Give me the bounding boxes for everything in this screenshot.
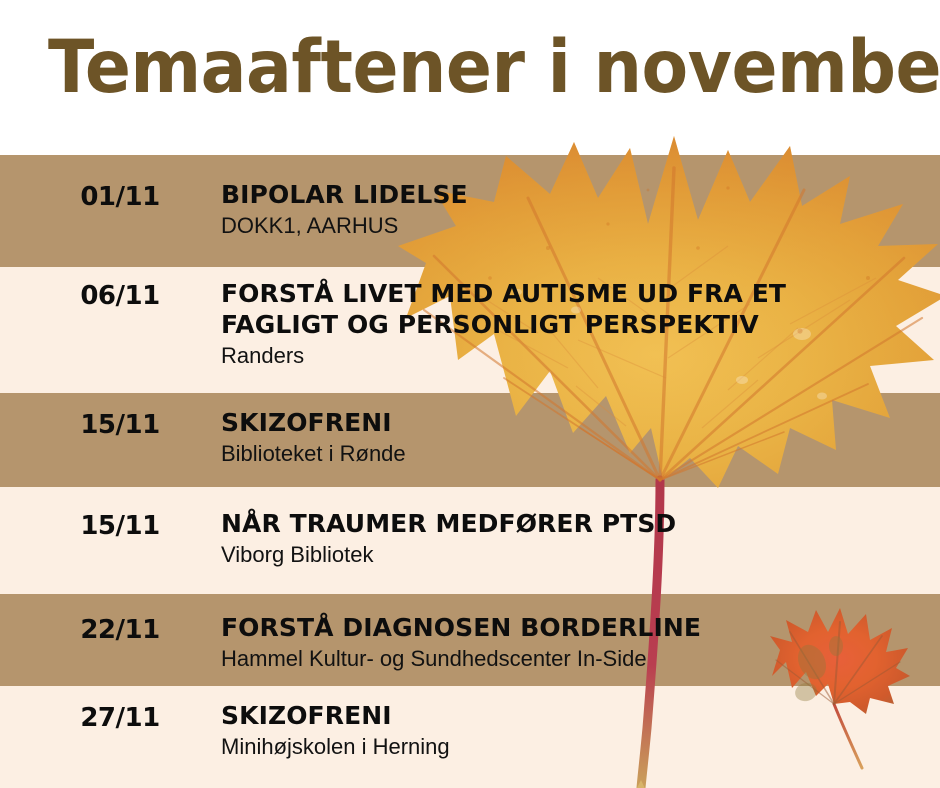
event-title: FORSTÅ LIVET MED AUTISME UD FRA ET FAGLI…: [221, 278, 930, 340]
event-place: Minihøjskolen i Herning: [221, 733, 930, 761]
page-title: Temaaftener i november: [48, 22, 940, 114]
event-date: 27/11: [55, 703, 185, 733]
poster: Temaaftener i november 01/11 BIPOLAR LID…: [0, 0, 940, 788]
event-info: BIPOLAR LIDELSE DOKK1, AARHUS: [221, 179, 930, 240]
event-date: 01/11: [55, 182, 185, 212]
event-title: SKIZOFRENI: [221, 700, 930, 731]
event-date: 06/11: [55, 281, 185, 311]
event-place: Biblioteket i Rønde: [221, 440, 930, 468]
event-date: 22/11: [55, 615, 185, 645]
header: Temaaftener i november: [0, 0, 940, 155]
event-place: Randers: [221, 342, 930, 370]
event-info: SKIZOFRENI Biblioteket i Rønde: [221, 407, 930, 468]
event-date: 15/11: [55, 410, 185, 440]
event-title: NÅR TRAUMER MEDFØRER PTSD: [221, 508, 930, 539]
event-info: SKIZOFRENI Minihøjskolen i Herning: [221, 700, 930, 761]
event-place: Hammel Kultur- og Sundhedscenter In-Side: [221, 645, 930, 673]
event-info: FORSTÅ LIVET MED AUTISME UD FRA ET FAGLI…: [221, 278, 930, 370]
event-title: BIPOLAR LIDELSE: [221, 179, 930, 210]
event-title: FORSTÅ DIAGNOSEN BORDERLINE: [221, 612, 930, 643]
event-place: DOKK1, AARHUS: [221, 212, 930, 240]
event-info: FORSTÅ DIAGNOSEN BORDERLINE Hammel Kultu…: [221, 612, 930, 673]
event-place: Viborg Bibliotek: [221, 541, 930, 569]
event-title: SKIZOFRENI: [221, 407, 930, 438]
event-date: 15/11: [55, 511, 185, 541]
event-info: NÅR TRAUMER MEDFØRER PTSD Viborg Bibliot…: [221, 508, 930, 569]
